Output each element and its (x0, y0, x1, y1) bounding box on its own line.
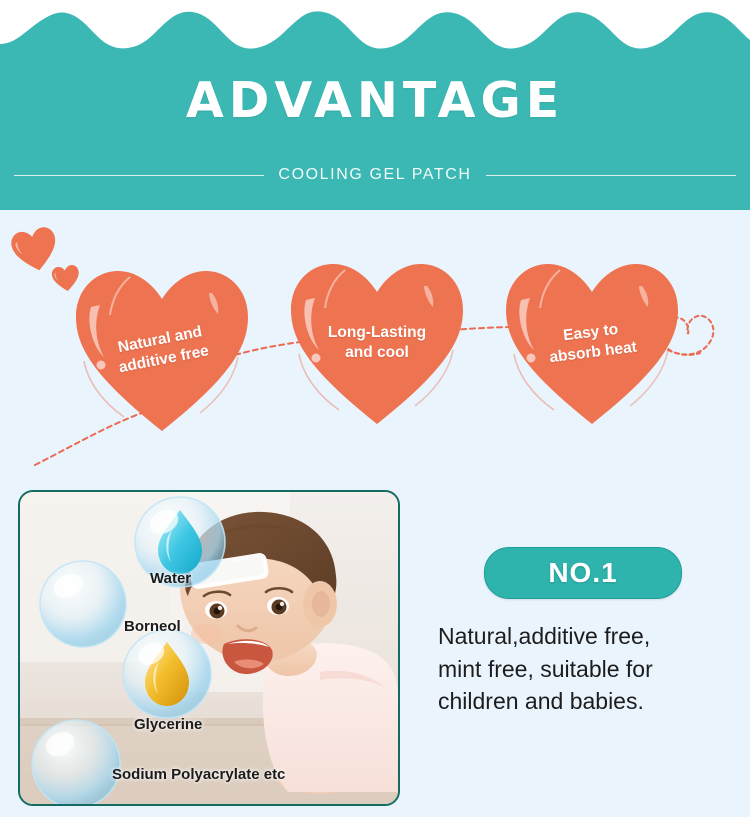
oil-droplet-bubble-icon (123, 630, 211, 718)
advantage-card-3[interactable]: Easy to absorb heat (502, 258, 682, 428)
header-subtitle: COOLING GEL PATCH (278, 166, 471, 184)
advantage-card-1[interactable]: Natural and additive free (72, 265, 252, 435)
baby-with-cooling-patch-photo (20, 492, 398, 804)
advantages-section: Natural and additive free Long-Lasting a… (0, 210, 750, 475)
advantage-card-2[interactable]: Long-Lasting and cool (287, 258, 467, 428)
header-banner: ADVANTAGE COOLING GEL PATCH (0, 0, 750, 210)
no1-badge: NO.1 (484, 547, 682, 599)
page-title: ADVANTAGE (0, 72, 750, 129)
badge-label: NO.1 (548, 557, 617, 589)
advantage-label-2: Long-Lasting and cool (287, 258, 467, 428)
bubble-icon (32, 720, 120, 804)
feature-description-line3: children and babies. (438, 685, 738, 718)
rule-left (14, 175, 264, 176)
advantage-2-line2: and cool (328, 343, 426, 363)
bubble-icon (40, 561, 126, 647)
ingredient-label-sodium-polyacrylate: Sodium Polyacrylate etc (112, 766, 285, 783)
feature-description-line2: mint free, suitable for (438, 653, 738, 686)
ingredient-label-borneol: Borneol (124, 618, 181, 635)
header-subtitle-row: COOLING GEL PATCH (0, 163, 750, 187)
advertisement-page: ADVANTAGE COOLING GEL PATCH (0, 0, 750, 817)
advantage-2-line1: Long-Lasting (328, 323, 426, 343)
ingredient-label-water: Water (150, 570, 191, 587)
feature-description: Natural,additive free, mint free, suitab… (438, 620, 738, 718)
product-photo-panel: Water Borneol Glycerine Sodium Polyacryl… (18, 490, 400, 806)
rule-right (486, 175, 736, 176)
ingredient-label-glycerine: Glycerine (134, 716, 202, 733)
advantage-label-1: Natural and additive free (57, 249, 266, 450)
advantage-label-3: Easy to absorb heat (492, 248, 691, 439)
feature-description-line1: Natural,additive free, (438, 620, 738, 653)
